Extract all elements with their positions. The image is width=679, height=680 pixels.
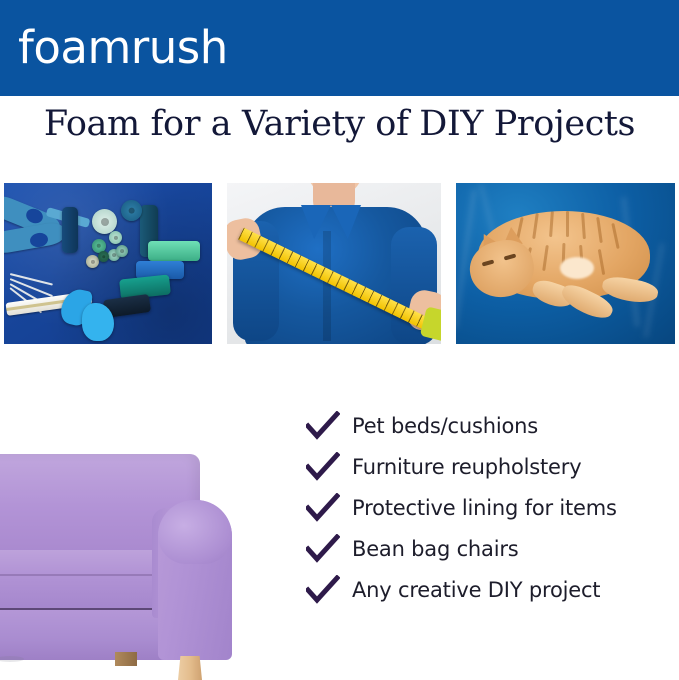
sewing-button xyxy=(121,200,142,221)
check-icon xyxy=(306,411,340,441)
sofa-rolled-arm-top xyxy=(158,500,232,564)
check-icon xyxy=(306,493,340,523)
purple-sofa-illustration xyxy=(0,438,252,679)
list-item: Protective lining for items xyxy=(306,487,676,528)
shirt-placket xyxy=(323,231,331,341)
list-item: Pet beds/cushions xyxy=(306,405,676,446)
sofa-floor-shadow xyxy=(0,656,24,662)
sewing-supplies-photo xyxy=(4,183,212,344)
check-icon xyxy=(306,534,340,564)
cat-belly-patch xyxy=(560,257,594,279)
benefit-label: Bean bag chairs xyxy=(352,536,519,562)
thread-spool xyxy=(148,241,200,261)
photo-strip xyxy=(4,183,675,344)
check-icon xyxy=(306,452,340,482)
cat-on-beanbag-photo xyxy=(456,183,675,344)
list-item: Bean bag chairs xyxy=(306,528,676,569)
measuring-tape-photo xyxy=(227,183,441,344)
list-item: Any creative DIY project xyxy=(306,569,676,610)
tailors-chalk xyxy=(82,303,114,341)
benefit-label: Any creative DIY project xyxy=(352,577,600,603)
sofa-leg-back xyxy=(115,652,137,666)
benefits-list: Pet beds/cushions Furniture reupholstery… xyxy=(306,405,676,610)
header-band: foamrush xyxy=(0,0,679,96)
benefit-label: Furniture reupholstery xyxy=(352,454,581,480)
benefit-label: Protective lining for items xyxy=(352,495,617,521)
benefit-label: Pet beds/cushions xyxy=(352,413,538,439)
sewing-button xyxy=(98,251,109,262)
brand-logo: foamrush xyxy=(18,22,228,74)
sofa-leg-front xyxy=(178,656,202,680)
thread-spool xyxy=(62,207,78,253)
sewing-button xyxy=(109,231,122,244)
list-item: Furniture reupholstery xyxy=(306,446,676,487)
straight-pins xyxy=(8,269,68,295)
page-title: Foam for a Variety of DIY Projects xyxy=(0,104,679,144)
sewing-button xyxy=(116,245,128,257)
check-icon xyxy=(306,575,340,605)
